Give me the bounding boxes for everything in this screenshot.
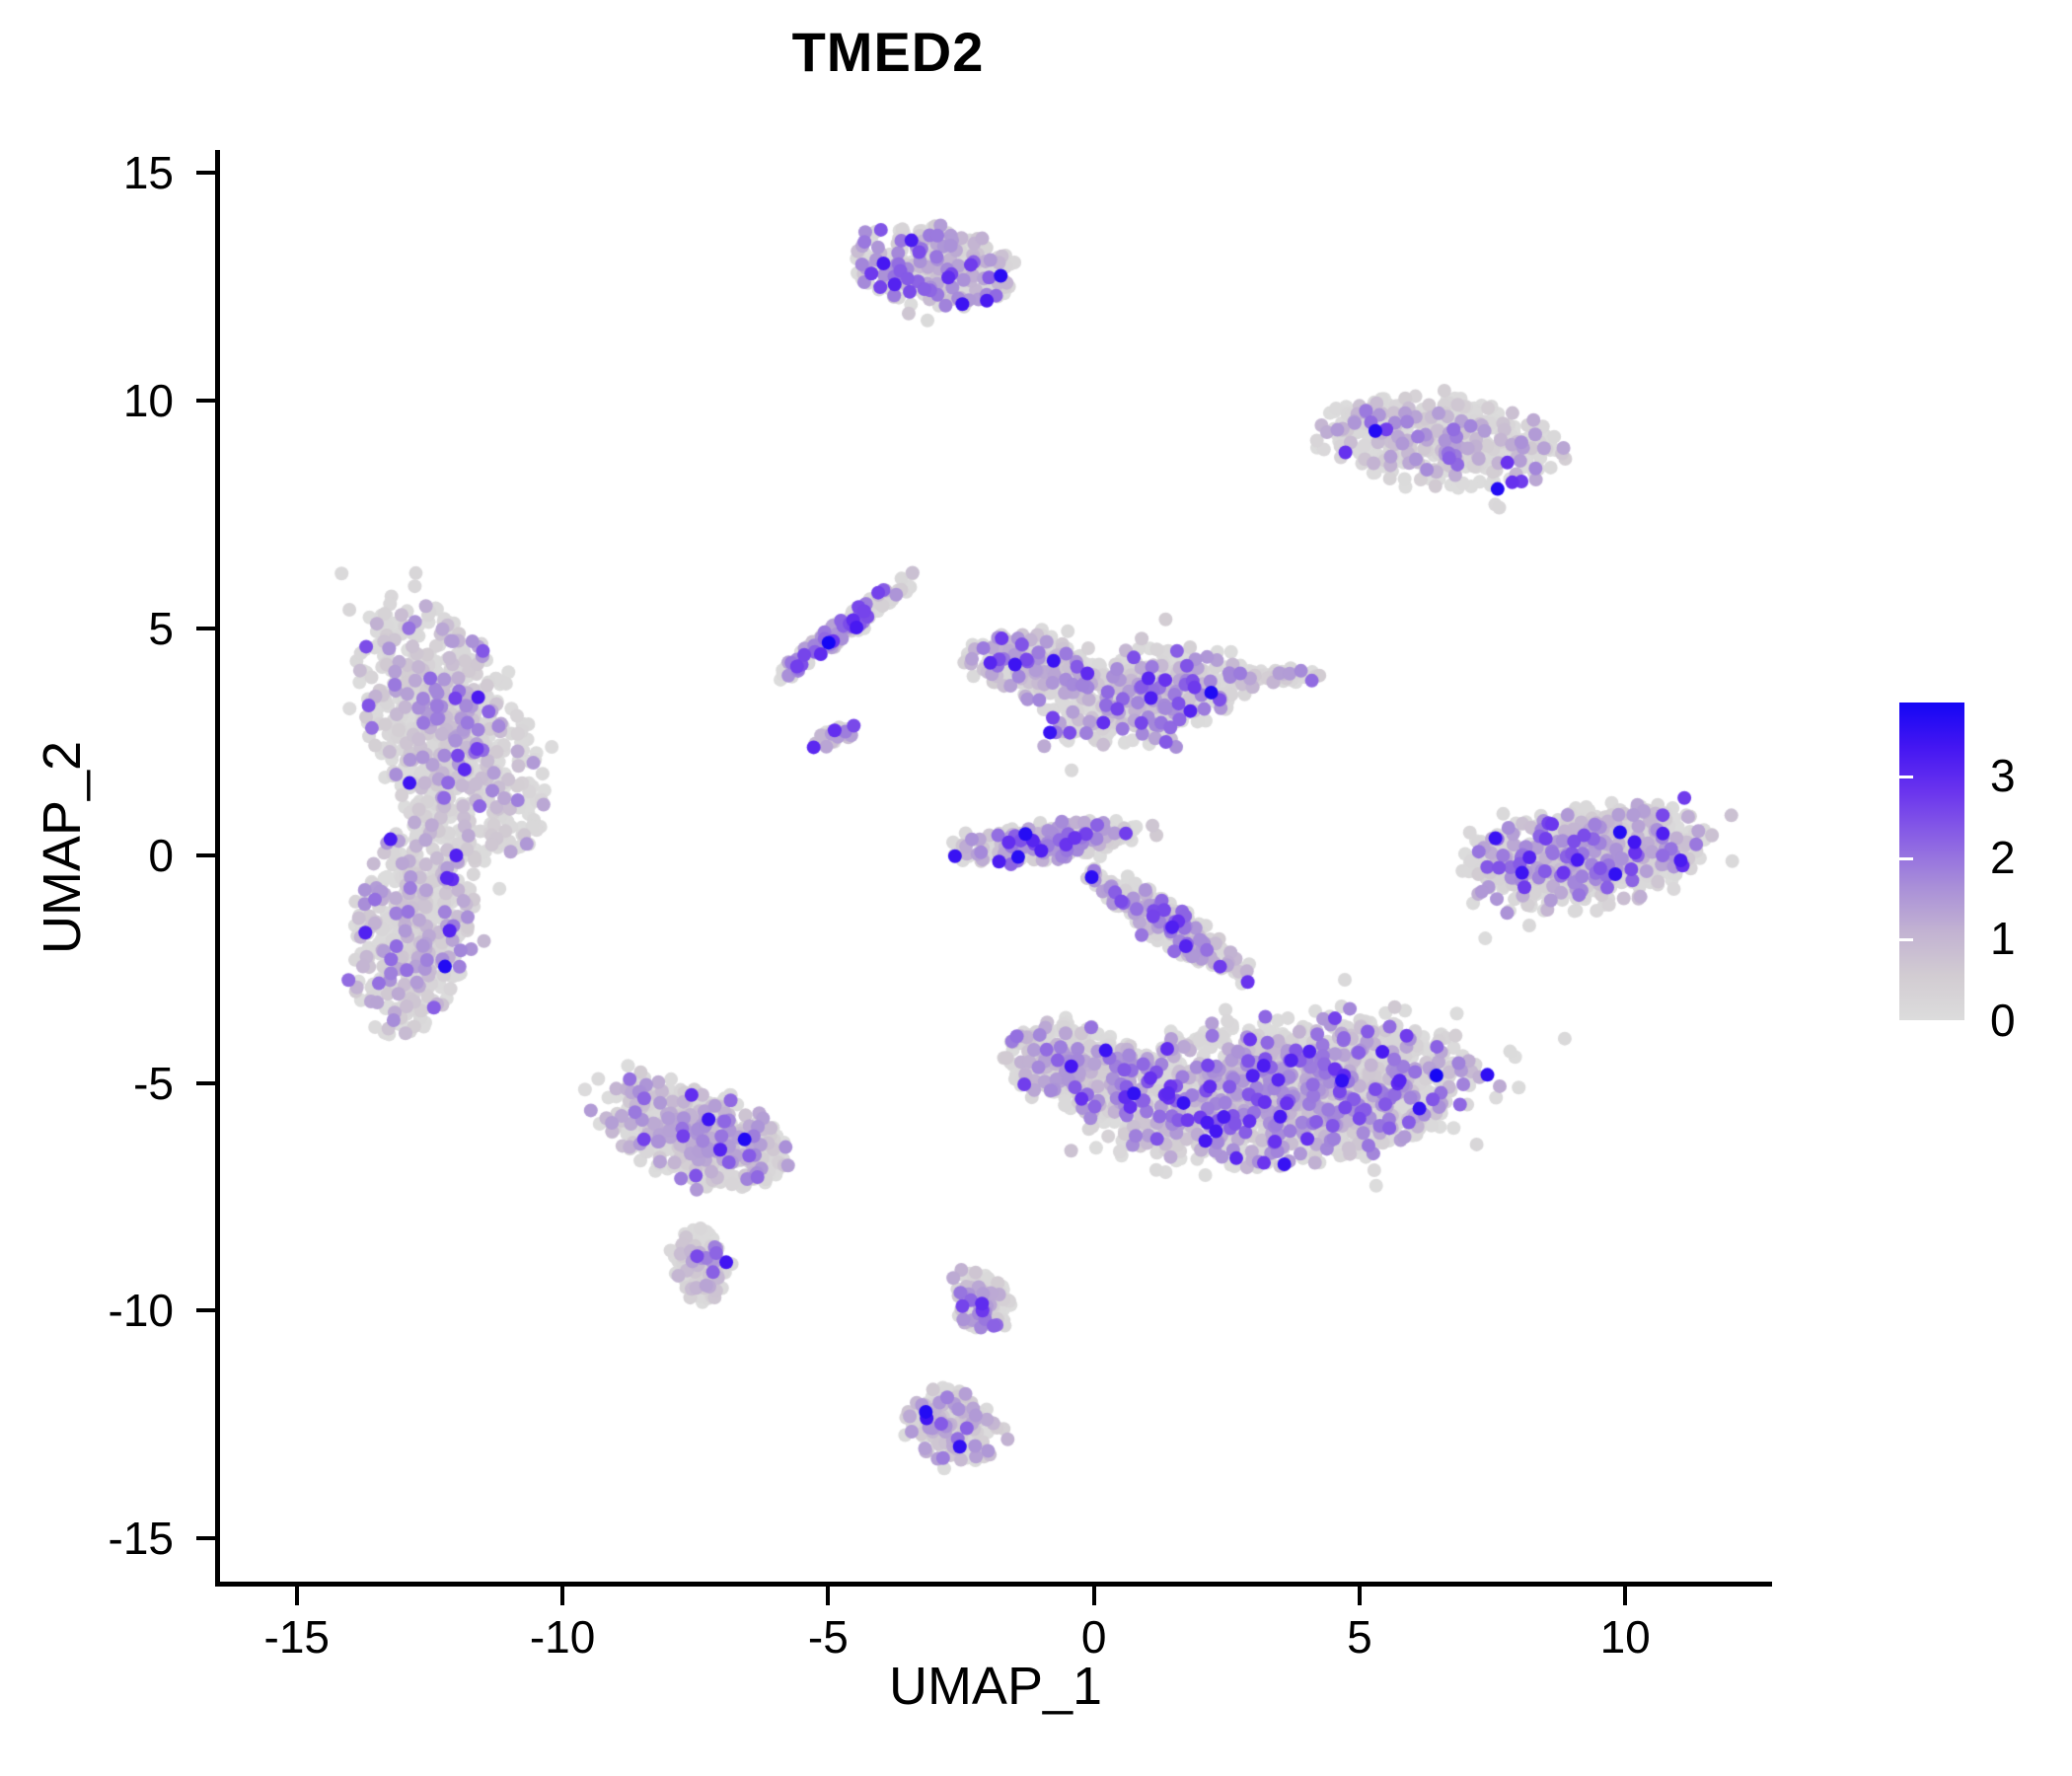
- colorbar-label-1: 1: [1990, 916, 2016, 961]
- x-axis-line: [215, 1582, 1772, 1587]
- y-axis-line: [215, 150, 220, 1586]
- y-ticklabel--10: -10: [0, 1288, 174, 1333]
- x-tick-0: [1092, 1587, 1096, 1605]
- x-tick-5: [1358, 1587, 1362, 1605]
- colorbar-tick-1: [1899, 938, 1913, 941]
- y-tick--5: [196, 1081, 215, 1085]
- y-ticklabel--15: -15: [0, 1516, 174, 1561]
- colorbar-tick-3: [1899, 776, 1913, 778]
- colorbar-label-0: 0: [1990, 998, 2016, 1043]
- page-title: TMED2: [0, 20, 1776, 84]
- y-tick--15: [196, 1536, 215, 1540]
- y-axis-title: UMAP_2: [32, 453, 93, 1242]
- umap-feature-plot: TMED2 151050-5-10-15 -15-10-50510 UMAP_1…: [0, 0, 2072, 1776]
- y-tick--10: [196, 1308, 215, 1312]
- scatter-plot-canvas: [217, 118, 1774, 1584]
- y-tick-15: [196, 171, 215, 175]
- colorbar-label-3: 3: [1990, 753, 2016, 798]
- x-ticklabel--5: -5: [729, 1614, 926, 1660]
- colorbar-gradient: [1899, 703, 1964, 1020]
- x-ticklabel-5: 5: [1261, 1614, 1458, 1660]
- colorbar-tick-2: [2034, 857, 2047, 860]
- y-ticklabel-10: 10: [0, 378, 174, 423]
- y-tick-5: [196, 627, 215, 630]
- y-tick-10: [196, 399, 215, 403]
- x-axis-title: UMAP_1: [217, 1656, 1774, 1717]
- colorbar-label-2: 2: [1990, 835, 2016, 880]
- x-tick--10: [560, 1587, 564, 1605]
- colorbar-tick-2: [1899, 857, 1913, 860]
- y-ticklabel-15: 15: [0, 150, 174, 195]
- x-ticklabel-0: 0: [996, 1614, 1193, 1660]
- colorbar-tick-1: [2034, 938, 2047, 941]
- x-ticklabel--15: -15: [198, 1614, 396, 1660]
- color-legend: 3210: [1899, 703, 2047, 1023]
- x-tick--15: [295, 1587, 299, 1605]
- x-tick--5: [826, 1587, 830, 1605]
- x-ticklabel--10: -10: [464, 1614, 661, 1660]
- x-ticklabel-10: 10: [1526, 1614, 1724, 1660]
- x-tick-10: [1623, 1587, 1627, 1605]
- colorbar-tick-3: [2034, 776, 2047, 778]
- y-tick-0: [196, 853, 215, 857]
